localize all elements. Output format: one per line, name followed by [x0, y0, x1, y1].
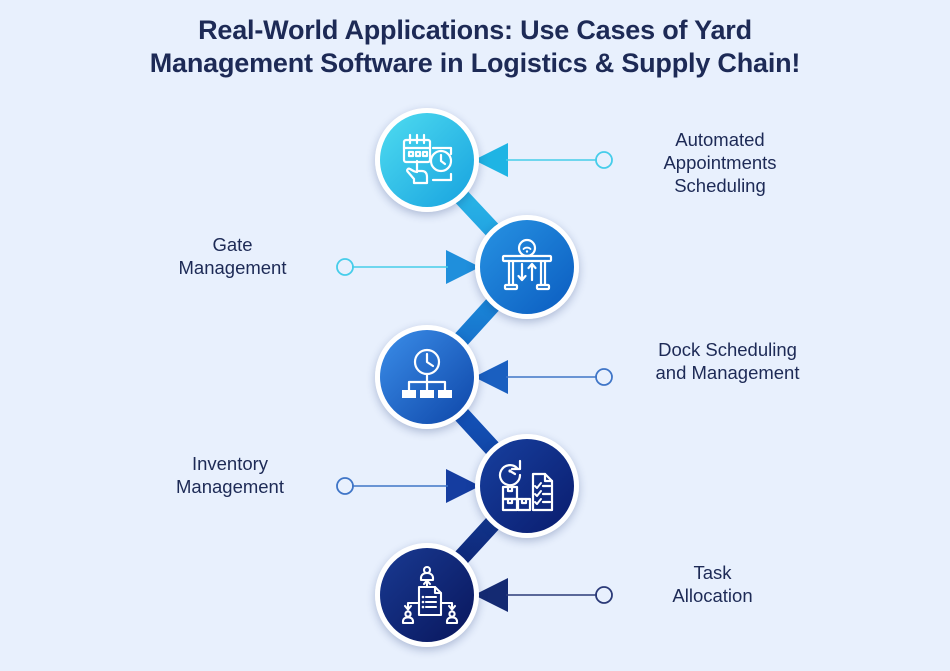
- connector-automated-appointments-scheduling: [474, 143, 612, 177]
- node-gate-management[interactable]: [475, 215, 579, 319]
- calendar-clock-tap-icon: [395, 128, 459, 192]
- connector-task-allocation: [474, 578, 612, 612]
- node-dock-scheduling-and-management[interactable]: [375, 325, 479, 429]
- node-inventory-management[interactable]: [475, 434, 579, 538]
- boxes-checklist-refresh-icon: [495, 454, 559, 518]
- label-task-allocation: Task Allocation: [620, 561, 805, 607]
- node-automated-appointments-scheduling[interactable]: [375, 108, 479, 212]
- connector-dock-scheduling-and-management: [474, 360, 612, 394]
- label-dock-scheduling-and-management: Dock Scheduling and Management: [620, 338, 835, 384]
- document-people-allocation-icon: [395, 563, 459, 627]
- clock-hierarchy-icon: [395, 345, 459, 409]
- label-inventory-management: Inventory Management: [130, 452, 330, 498]
- chain-diagram: [0, 0, 950, 671]
- connector-gate-management: [337, 250, 480, 284]
- label-automated-appointments-scheduling: Automated Appointments Scheduling: [620, 128, 820, 197]
- connector-inventory-management: [337, 469, 480, 503]
- infographic-canvas: Real-World Applications: Use Cases of Ya…: [0, 0, 950, 671]
- gate-barrier-wifi-icon: [495, 235, 559, 299]
- node-task-allocation[interactable]: [375, 543, 479, 647]
- label-gate-management: Gate Management: [135, 233, 330, 279]
